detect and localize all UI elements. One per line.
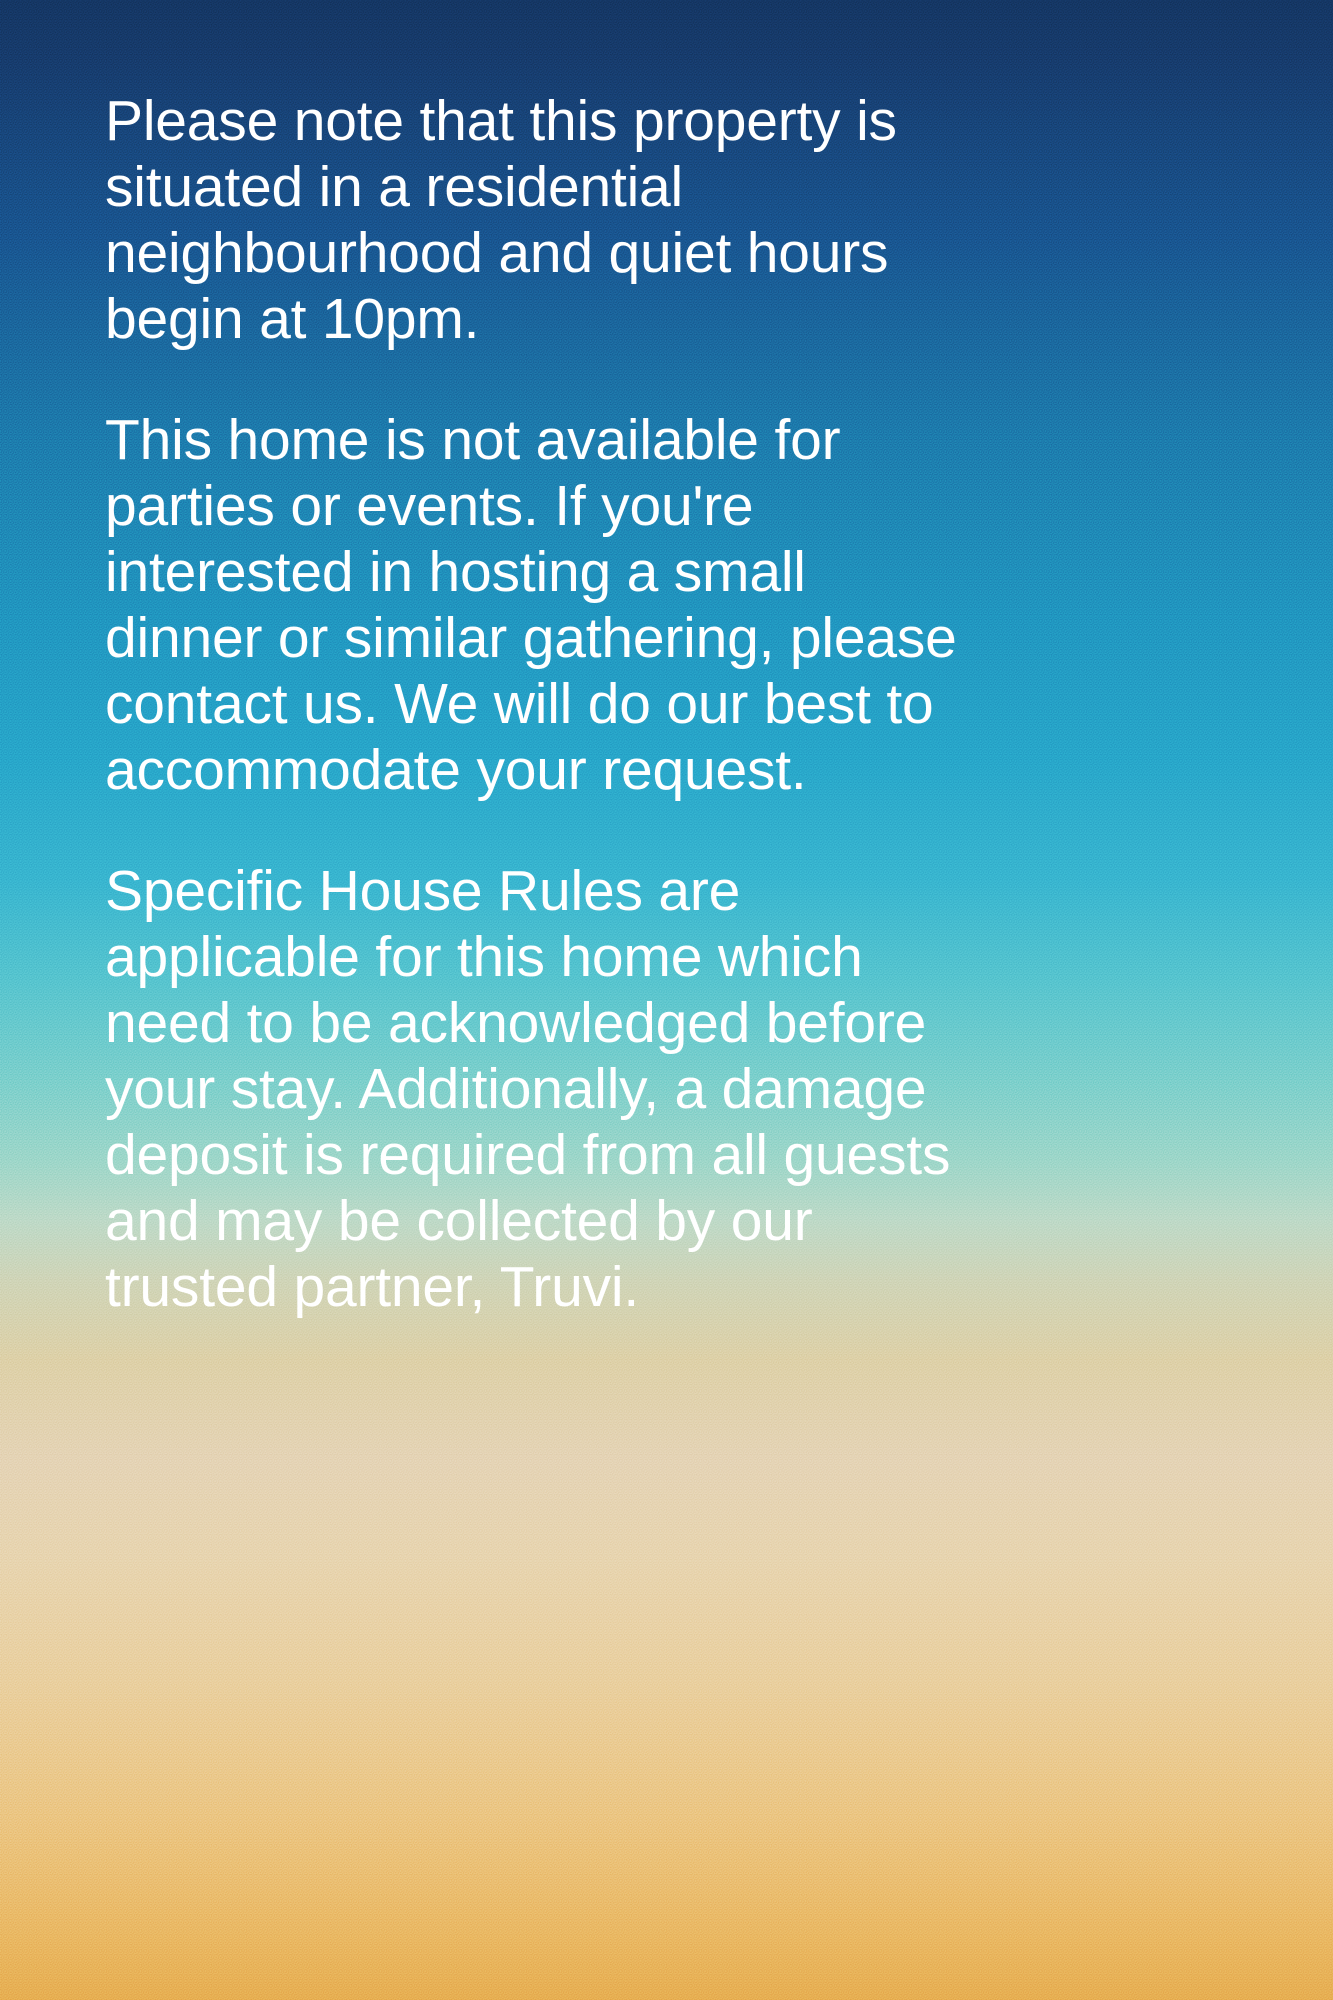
notice-card: Please note that this property is situat… bbox=[0, 0, 1333, 2000]
notice-text-block: Please note that this property is situat… bbox=[105, 88, 965, 1320]
paragraph-house-rules-deposit: Specific House Rules are applicable for … bbox=[105, 858, 965, 1320]
paragraph-quiet-hours: Please note that this property is situat… bbox=[105, 88, 965, 352]
paragraph-no-parties: This home is not available for parties o… bbox=[105, 407, 965, 803]
